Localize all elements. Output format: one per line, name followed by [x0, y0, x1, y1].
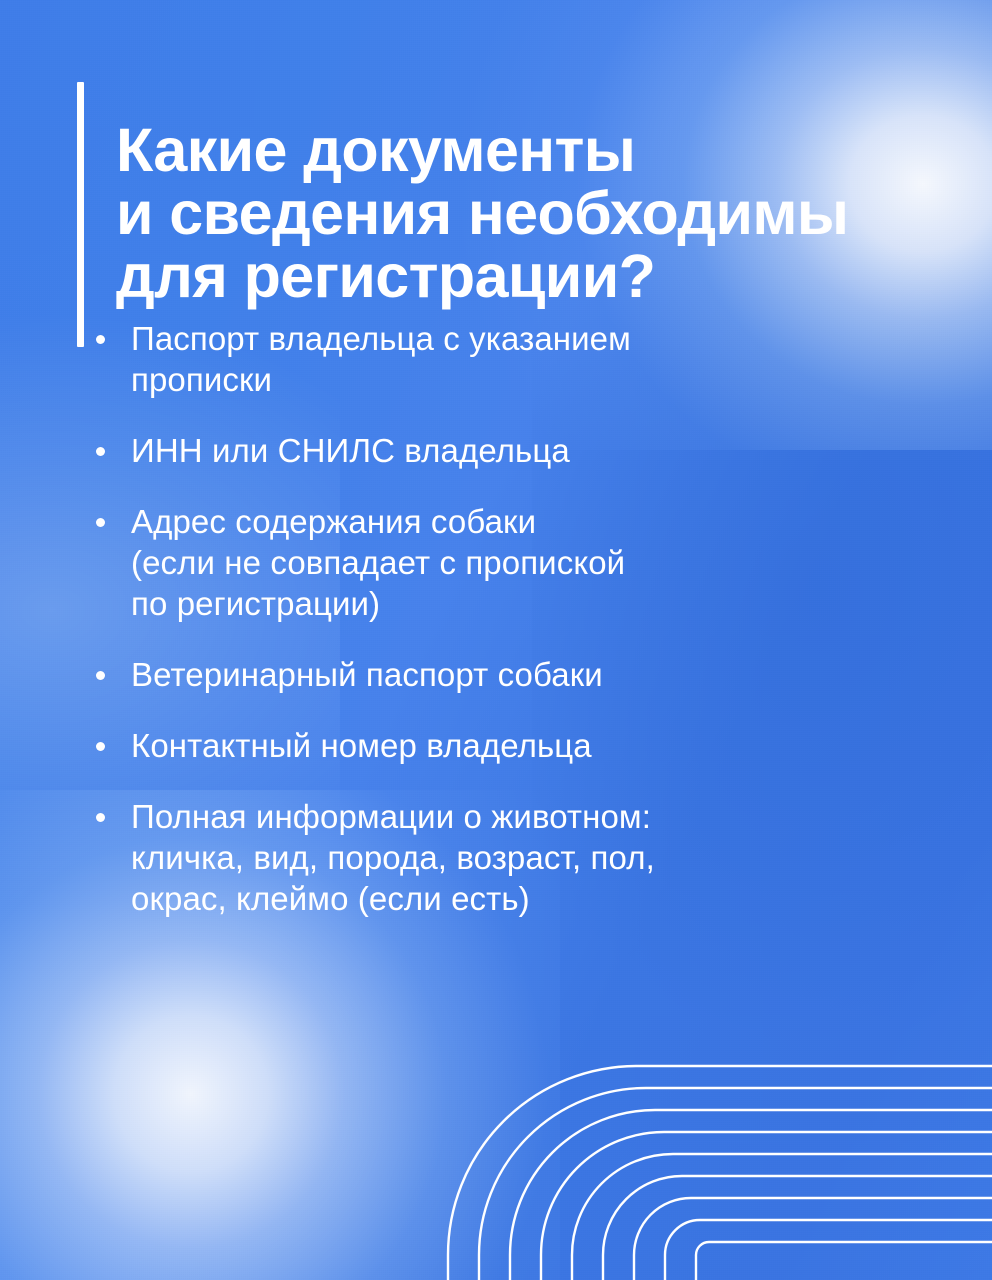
page-title-line: для регистрации? [116, 245, 848, 308]
list-item-text: Адрес содержания собаки (если не совпада… [131, 501, 625, 624]
list-item: Контактный номер владельца [96, 725, 926, 766]
list-item-line: ИНН или СНИЛС владельца [131, 430, 570, 471]
page-title-line: и сведения необходимы [116, 182, 848, 245]
list-item-text: ИНН или СНИЛС владельца [131, 430, 570, 471]
list-item-line: Контактный номер владельца [131, 725, 592, 766]
list-item-line: (если не совпадает с пропиской [131, 542, 625, 583]
list-item-line: прописки [131, 359, 631, 400]
list-item: Паспорт владельца с указанием прописки [96, 318, 926, 400]
page-title-line: Какие документы [116, 119, 848, 182]
poster-content: Какие документы и сведения необходимы дл… [0, 0, 992, 1280]
list-item-line: Ветеринарный паспорт собаки [131, 654, 603, 695]
list-item-line: Полная информации о животном: [131, 796, 655, 837]
heading-block: Какие документы и сведения необходимы дл… [77, 78, 848, 349]
page-title: Какие документы и сведения необходимы дл… [116, 119, 848, 308]
heading-accent-bar [77, 82, 84, 347]
list-item: ИНН или СНИЛС владельца [96, 430, 926, 471]
list-item-line: окрас, клеймо (если есть) [131, 878, 655, 919]
list-item-text: Ветеринарный паспорт собаки [131, 654, 603, 695]
list-item-text: Паспорт владельца с указанием прописки [131, 318, 631, 400]
list-item-text: Полная информации о животном: кличка, ви… [131, 796, 655, 919]
list-item: Адрес содержания собаки (если не совпада… [96, 501, 926, 624]
list-item: Ветеринарный паспорт собаки [96, 654, 926, 695]
list-item-line: по регистрации) [131, 583, 625, 624]
bullet-dot-icon [96, 671, 105, 680]
bullet-dot-icon [96, 447, 105, 456]
list-item-line: Паспорт владельца с указанием [131, 318, 631, 359]
requirements-list: Паспорт владельца с указанием прописки И… [96, 318, 926, 919]
list-item-line: кличка, вид, порода, возраст, пол, [131, 837, 655, 878]
bullet-dot-icon [96, 813, 105, 822]
list-item-text: Контактный номер владельца [131, 725, 592, 766]
list-item: Полная информации о животном: кличка, ви… [96, 796, 926, 919]
bullet-dot-icon [96, 335, 105, 344]
list-item-line: Адрес содержания собаки [131, 501, 625, 542]
poster-canvas: Какие документы и сведения необходимы дл… [0, 0, 992, 1280]
bullet-dot-icon [96, 742, 105, 751]
bullet-dot-icon [96, 518, 105, 527]
